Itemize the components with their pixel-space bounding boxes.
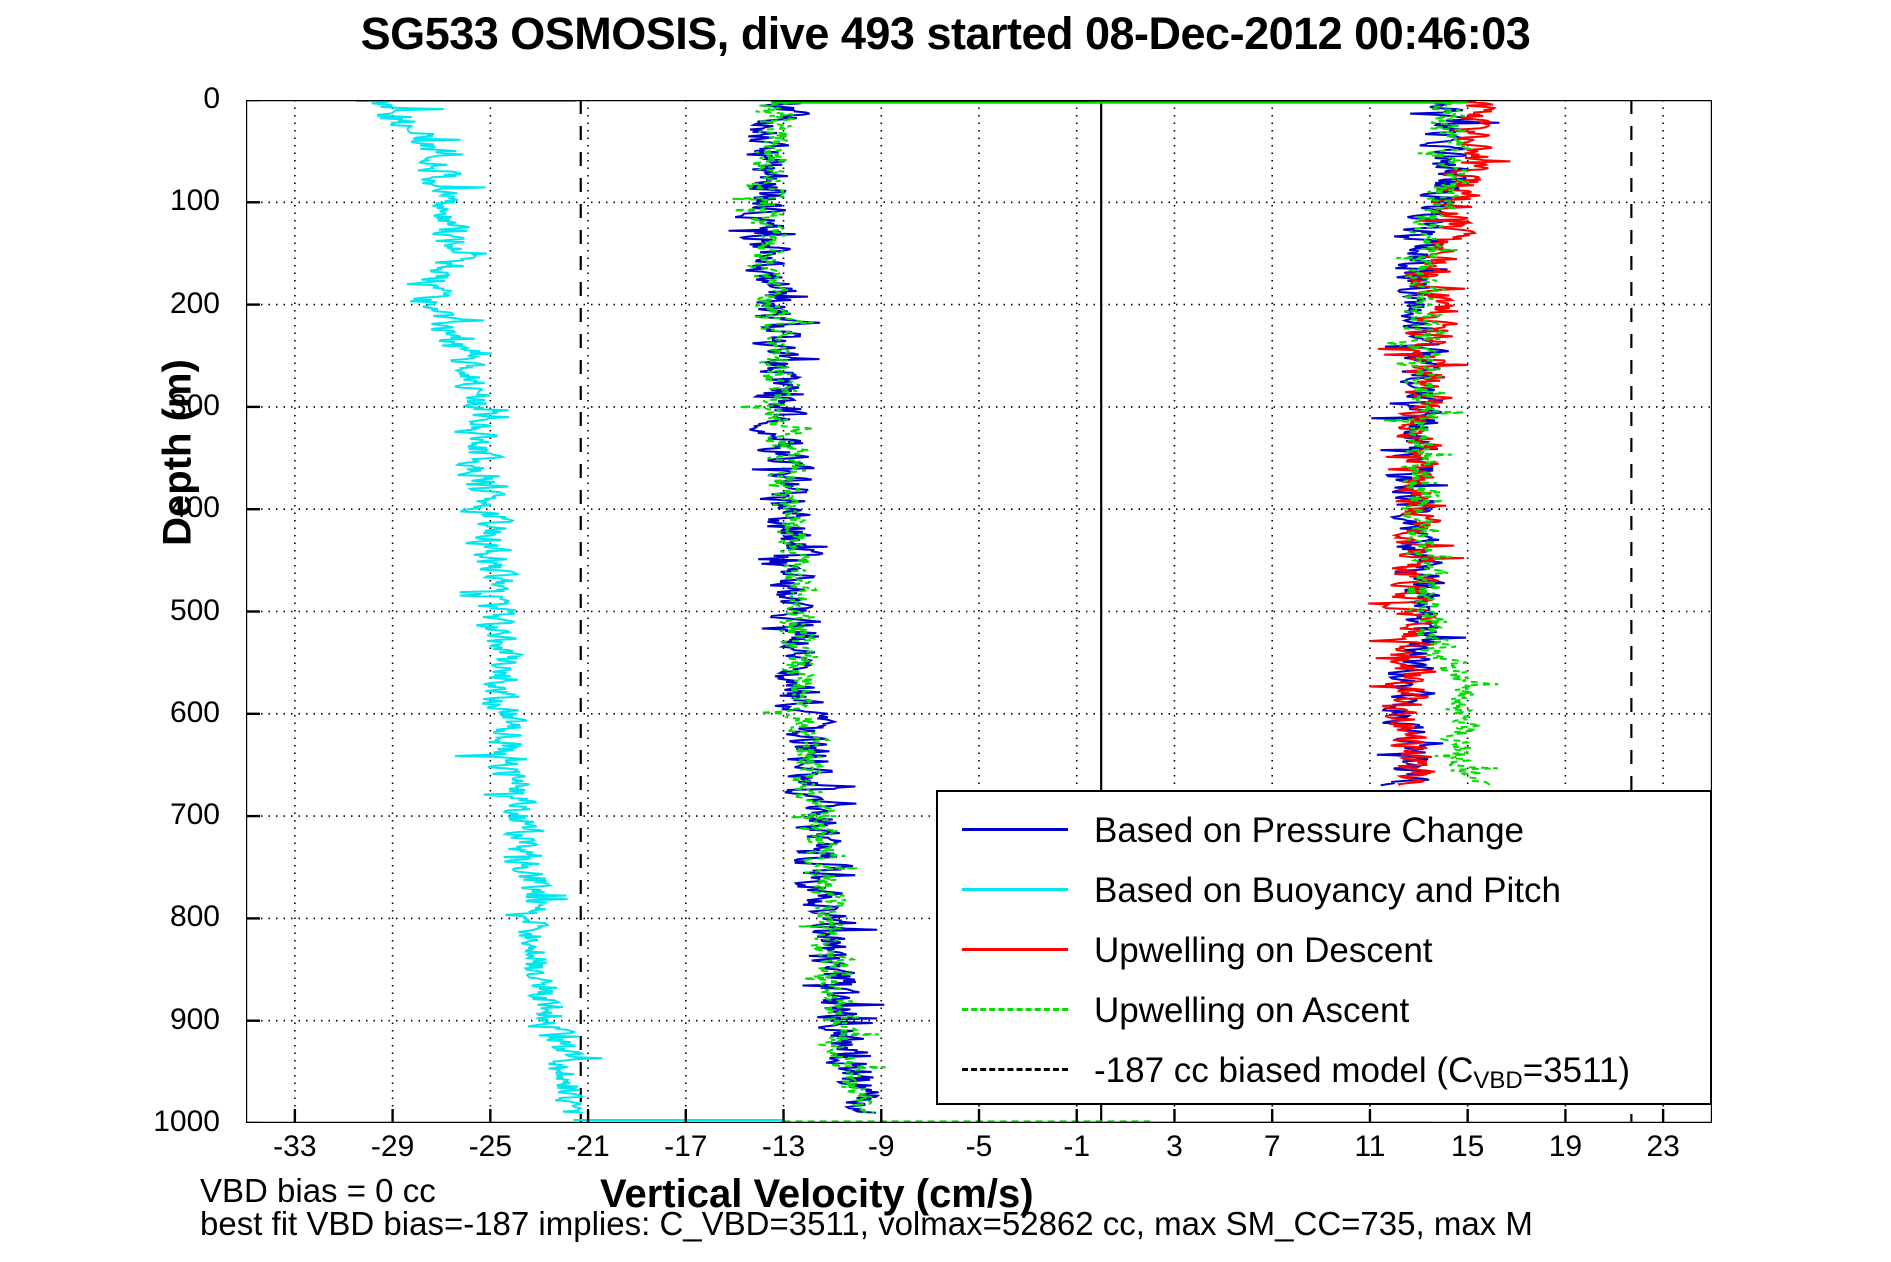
legend-item-buoyancy-pitch[interactable]: Based on Buoyancy and Pitch: [938, 862, 1710, 920]
x-tick-label: -29: [371, 1131, 414, 1163]
x-tick-label: -17: [664, 1131, 707, 1163]
x-tick-label: 23: [1646, 1131, 1679, 1163]
legend-item-biased-model[interactable]: -187 cc biased model (CVBD=3511): [938, 1042, 1710, 1100]
series-1-branch-1: [729, 100, 885, 1113]
x-tick-label: -9: [868, 1131, 895, 1163]
y-tick-label: 0: [20, 84, 220, 114]
y-tick-label: 900: [20, 1005, 220, 1035]
x-tick-label: 7: [1264, 1131, 1281, 1163]
y-tick-label: 800: [20, 902, 220, 932]
figure-root: SG533 OSMOSIS, dive 493 started 08-Dec-2…: [0, 0, 1891, 1262]
x-tick-label: -21: [566, 1131, 609, 1163]
legend-swatch-upwelling-descent: [962, 948, 1068, 951]
figure-title: SG533 OSMOSIS, dive 493 started 08-Dec-2…: [0, 8, 1891, 60]
series-2-branch-1: [372, 100, 603, 1113]
x-tick-label: 11: [1354, 1131, 1385, 1163]
legend-label-upwelling-descent: Upwelling on Descent: [1094, 922, 1433, 980]
legend-swatch-buoyancy-pitch: [962, 888, 1068, 891]
legend-item-upwelling-descent[interactable]: Upwelling on Descent: [938, 922, 1710, 980]
legend-swatch-pressure-change: [962, 828, 1068, 831]
x-tick-label: -33: [273, 1131, 316, 1163]
y-tick-label: 700: [20, 800, 220, 830]
legend-label-biased-model: -187 cc biased model (CVBD=3511): [1094, 1042, 1630, 1110]
x-tick-label: 15: [1451, 1131, 1484, 1163]
legend-box[interactable]: Based on Pressure ChangeBased on Buoyanc…: [936, 790, 1712, 1105]
footer-note: best fit VBD bias=-187 implies: C_VBD=35…: [200, 1205, 1533, 1243]
legend-swatch-upwelling-ascent: [962, 1008, 1068, 1011]
y-axis-tick-labels: 01002003004005006007008009001000: [0, 0, 246, 1262]
x-axis-tick-labels: -33-29-25-21-17-13-9-5-13711151923: [0, 1131, 1891, 1175]
y-axis-title: Depth (m): [156, 243, 201, 663]
legend-label-pressure-change: Based on Pressure Change: [1094, 802, 1524, 860]
legend-item-upwelling-ascent[interactable]: Upwelling on Ascent: [938, 982, 1710, 1040]
x-tick-label: -1: [1063, 1131, 1090, 1163]
x-tick-label: -5: [966, 1131, 993, 1163]
y-tick-label: 100: [20, 186, 220, 216]
legend-label-upwelling-ascent: Upwelling on Ascent: [1094, 982, 1409, 1040]
legend-label-buoyancy-pitch: Based on Buoyancy and Pitch: [1094, 862, 1561, 920]
legend-item-pressure-change[interactable]: Based on Pressure Change: [938, 802, 1710, 860]
x-tick-label: -13: [762, 1131, 805, 1163]
series-4-branch-1: [732, 100, 885, 1113]
legend-swatch-biased-model: [962, 1068, 1068, 1071]
x-tick-label: 19: [1549, 1131, 1582, 1163]
x-tick-label: -25: [469, 1131, 512, 1163]
legend-label-subscript: VBD: [1473, 1067, 1522, 1094]
y-tick-label: 600: [20, 698, 220, 728]
x-tick-label: 3: [1166, 1131, 1183, 1163]
